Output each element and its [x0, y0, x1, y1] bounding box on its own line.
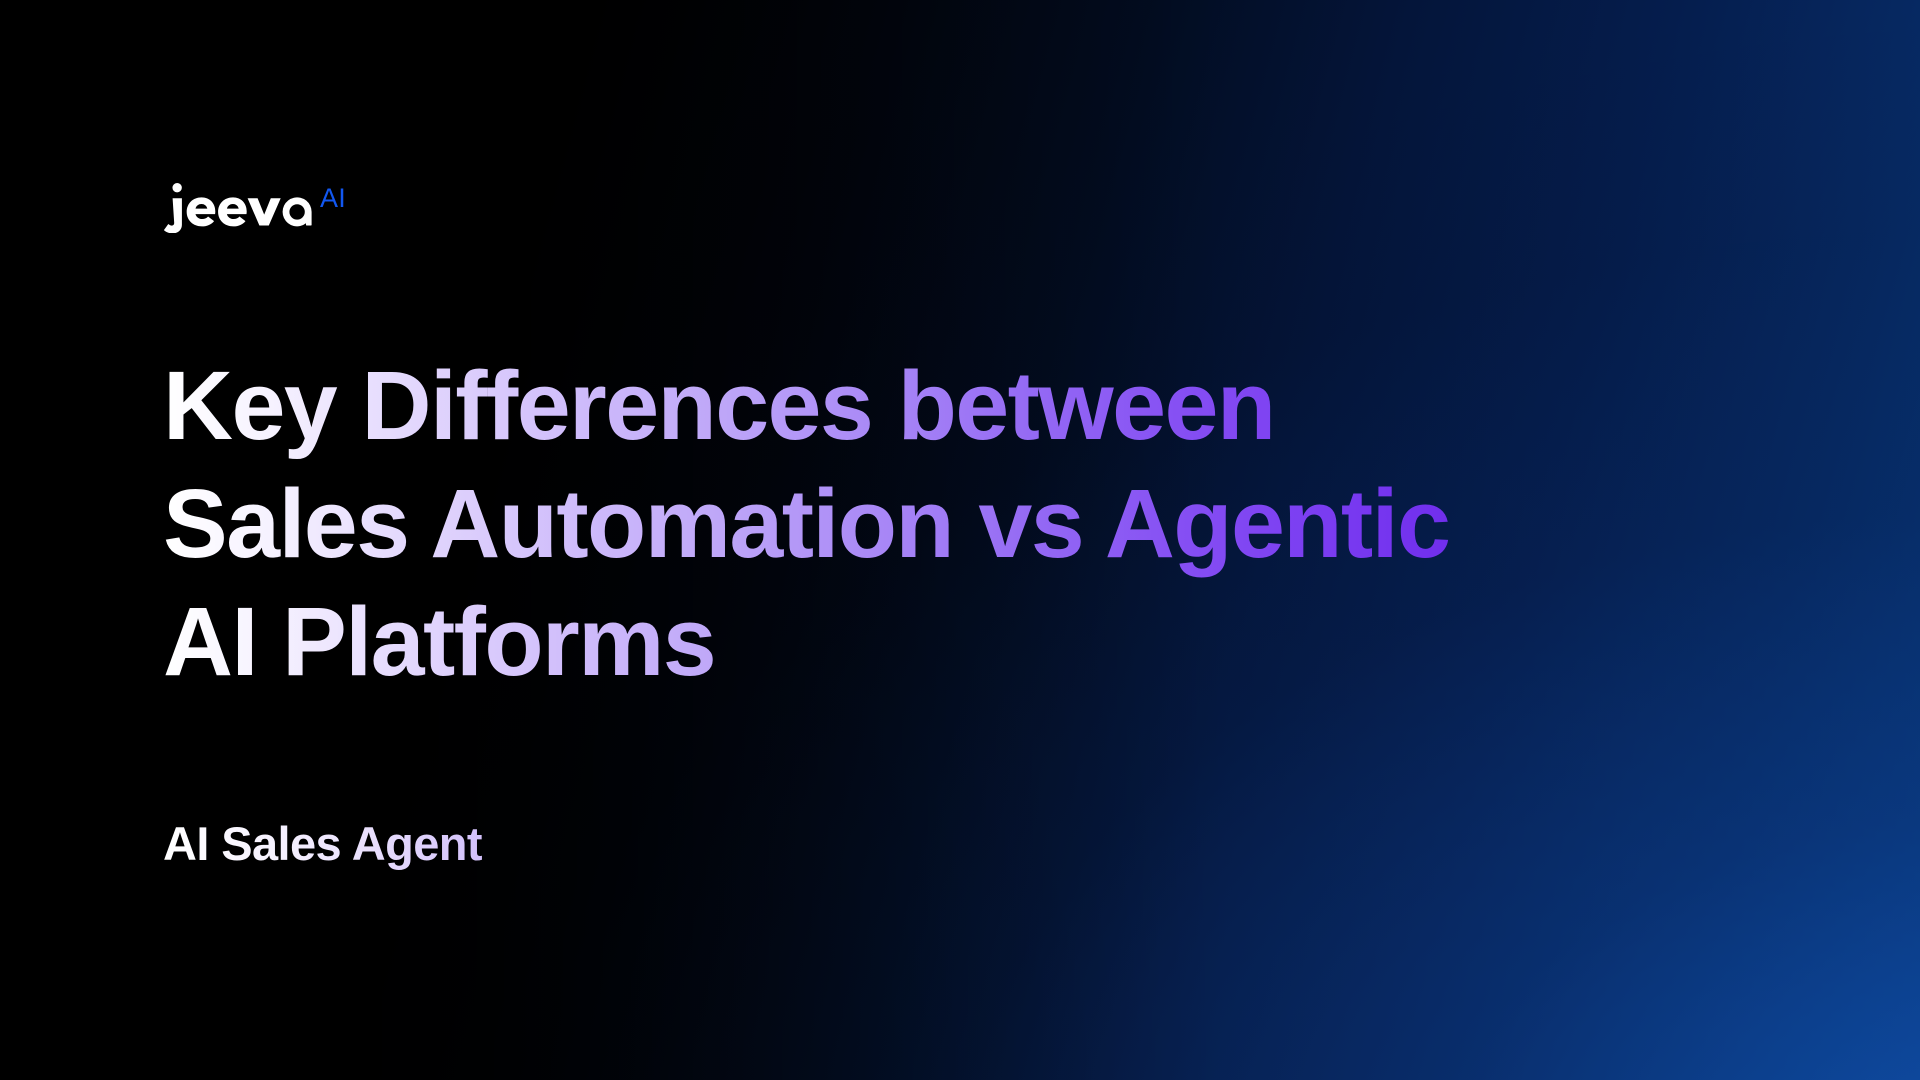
title-slide: AI Key Differences between Sales Automat… — [0, 0, 1920, 1080]
jeeva-wordmark-icon — [163, 183, 315, 233]
page-subtitle: AI Sales Agent — [163, 813, 633, 875]
slide-content: AI Key Differences between Sales Automat… — [0, 0, 1920, 1080]
logo-mark: AI — [163, 183, 346, 233]
page-title: Key Differences between Sales Automation… — [163, 347, 1693, 701]
jeeva-ai-logo[interactable]: AI — [163, 183, 346, 239]
logo-ai-suffix: AI — [320, 185, 346, 212]
